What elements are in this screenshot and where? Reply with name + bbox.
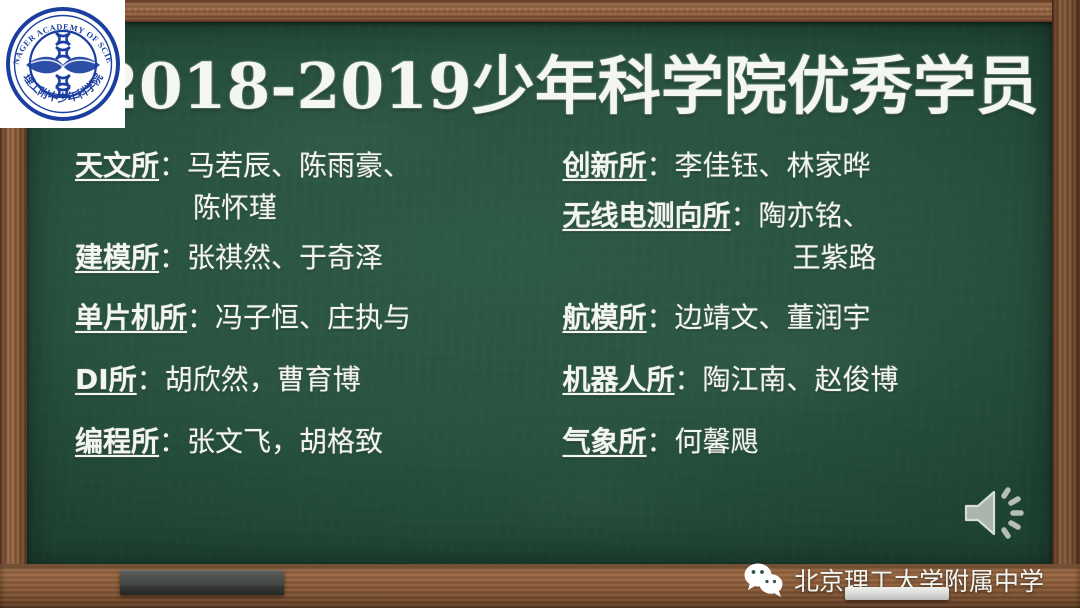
roster-columns: 天文所：马若辰、陈雨豪、 陈怀瑾 建模所：张祺然、于奇泽 单片机所：冯子恒、庄执… — [27, 140, 1052, 564]
member-names-tianwen: 马若辰、陈雨豪、 — [187, 149, 411, 182]
slide-canvas: 2018-2019少年科学院优秀学员 天文所：马若辰、陈雨豪、 陈怀瑾 建模所：… — [0, 0, 1080, 608]
member-names-jiqiren: 陶江南、赵俊博 — [703, 363, 899, 396]
roster-entry-hangmo: 航模所：边靖文、董润宇 — [563, 304, 1045, 332]
member-names-qixiang: 何馨飓 — [675, 425, 759, 458]
roster-entry-biancheng: 编程所：张文飞，胡格致 — [75, 428, 532, 456]
chalk-stick[interactable] — [845, 587, 949, 600]
academy-logo-icon: TEENAGER ACADEMY OF SCIENCE 理工附中少年科学院 — [4, 3, 122, 125]
member-names-di: 胡欣然，曹育博 — [165, 363, 361, 396]
member-names-wuxiandian: 陶亦铭、 — [759, 199, 871, 232]
blackboard-eraser[interactable] — [120, 570, 284, 595]
separator-danpianji: ： — [187, 301, 215, 334]
member-names-wuxiandian-cont: 王紫路 — [563, 244, 1045, 272]
member-names-biancheng: 张文飞，胡格致 — [187, 425, 383, 458]
institute-label-jiqiren: 机器人所 — [563, 363, 675, 396]
roster-entry-tianwen: 天文所：马若辰、陈雨豪、 陈怀瑾 — [75, 152, 532, 222]
separator-tianwen: ： — [159, 149, 187, 182]
roster-entry-di: DI所：胡欣然，曹育博 — [75, 366, 532, 394]
institute-label-jianmo: 建模所 — [75, 241, 159, 274]
wechat-icon — [743, 562, 785, 598]
separator-wuxiandian: ： — [731, 199, 759, 232]
separator-hangmo: ： — [647, 301, 675, 334]
institute-label-chuangxin: 创新所 — [563, 149, 647, 182]
speaker-volume-icon[interactable] — [956, 482, 1032, 544]
frame-right-rail — [1052, 0, 1080, 608]
frame-top-rail — [0, 0, 1080, 22]
separator-jiqiren: ： — [675, 363, 703, 396]
institute-label-qixiang: 气象所 — [563, 425, 647, 458]
separator-qixiang: ： — [647, 425, 675, 458]
separator-jianmo: ： — [159, 241, 187, 274]
roster-entry-wuxiandian: 无线电测向所：陶亦铭、 王紫路 — [563, 202, 1045, 272]
institute-label-wuxiandian: 无线电测向所 — [563, 199, 731, 232]
separator-biancheng: ： — [159, 425, 187, 458]
member-names-chuangxin: 李佳钰、林家晔 — [675, 149, 871, 182]
institute-label-biancheng: 编程所 — [75, 425, 159, 458]
roster-column-left: 天文所：马若辰、陈雨豪、 陈怀瑾 建模所：张祺然、于奇泽 单片机所：冯子恒、庄执… — [27, 140, 540, 564]
roster-entry-danpianji: 单片机所：冯子恒、庄执与 — [75, 304, 532, 332]
member-names-hangmo: 边靖文、董润宇 — [675, 301, 871, 334]
roster-entry-qixiang: 气象所：何馨飓 — [563, 428, 1045, 456]
institute-label-tianwen: 天文所 — [75, 149, 159, 182]
roster-entry-jianmo: 建模所：张祺然、于奇泽 — [75, 244, 532, 272]
logo-cn-text: 理工附中少年科学院 — [20, 71, 105, 105]
roster-entry-jiqiren: 机器人所：陶江南、赵俊博 — [563, 366, 1045, 394]
eraser-felt — [120, 586, 284, 595]
roster-entry-chuangxin: 创新所：李佳钰、林家晔 — [563, 152, 1045, 180]
separator-di: ： — [137, 363, 165, 396]
member-names-tianwen-cont: 陈怀瑾 — [75, 194, 532, 222]
member-names-danpianji: 冯子恒、庄执与 — [215, 301, 411, 334]
member-names-jianmo: 张祺然、于奇泽 — [187, 241, 383, 274]
separator-chuangxin: ： — [647, 149, 675, 182]
institute-label-hangmo: 航模所 — [563, 301, 647, 334]
institute-label-di: DI所 — [75, 363, 137, 396]
page-title: 2018-2019少年科学院优秀学员 — [95, 36, 1035, 127]
academy-logo-badge: TEENAGER ACADEMY OF SCIENCE 理工附中少年科学院 — [0, 0, 125, 128]
institute-label-danpianji: 单片机所 — [75, 301, 187, 334]
